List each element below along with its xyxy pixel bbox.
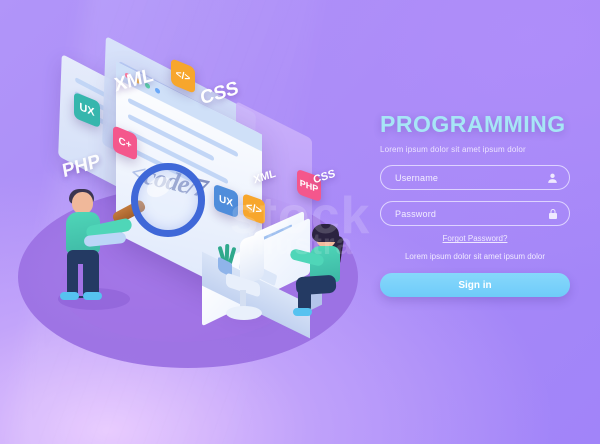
user-icon [546, 171, 559, 184]
password-field[interactable]: Password [380, 201, 570, 226]
woman-shoe [293, 308, 312, 316]
lock-icon [546, 207, 559, 220]
username-placeholder: Username [395, 173, 438, 183]
window-dot-blue [155, 87, 160, 95]
tag-word-css-2: CSS [312, 168, 336, 187]
woman-hair [312, 224, 339, 242]
login-page-illustration: <code/7 UX </> C+ UX </> PHP XML CSS PHP… [0, 0, 600, 444]
forgot-password-link[interactable]: Forgot Password? [380, 234, 570, 243]
password-placeholder: Password [395, 209, 436, 219]
man-legs [67, 250, 99, 298]
magnifier-glare [143, 173, 175, 202]
page-subtitle: Lorem ipsum dolor sit amet ipsum dolor [380, 145, 570, 154]
form-tagline: Lorem ipsum dolor sit amet ipsum dolor [380, 252, 570, 261]
character-man-with-magnifier [56, 192, 146, 312]
man-leg-gap [78, 264, 83, 296]
character-woman-at-desk [292, 226, 362, 326]
desk-scene [196, 222, 366, 340]
page-title: PROGRAMMING [380, 112, 570, 137]
sign-in-button[interactable]: Sign in [380, 273, 570, 297]
chair-base [226, 306, 262, 320]
illustration-artwork: <code/7 UX </> C+ UX </> PHP XML CSS PHP… [0, 0, 380, 444]
login-form: PROGRAMMING Lorem ipsum dolor sit amet i… [380, 112, 570, 297]
man-shoe-left [60, 292, 79, 300]
man-head [72, 192, 93, 214]
man-shoe-right [83, 292, 102, 300]
username-field[interactable]: Username [380, 165, 570, 190]
